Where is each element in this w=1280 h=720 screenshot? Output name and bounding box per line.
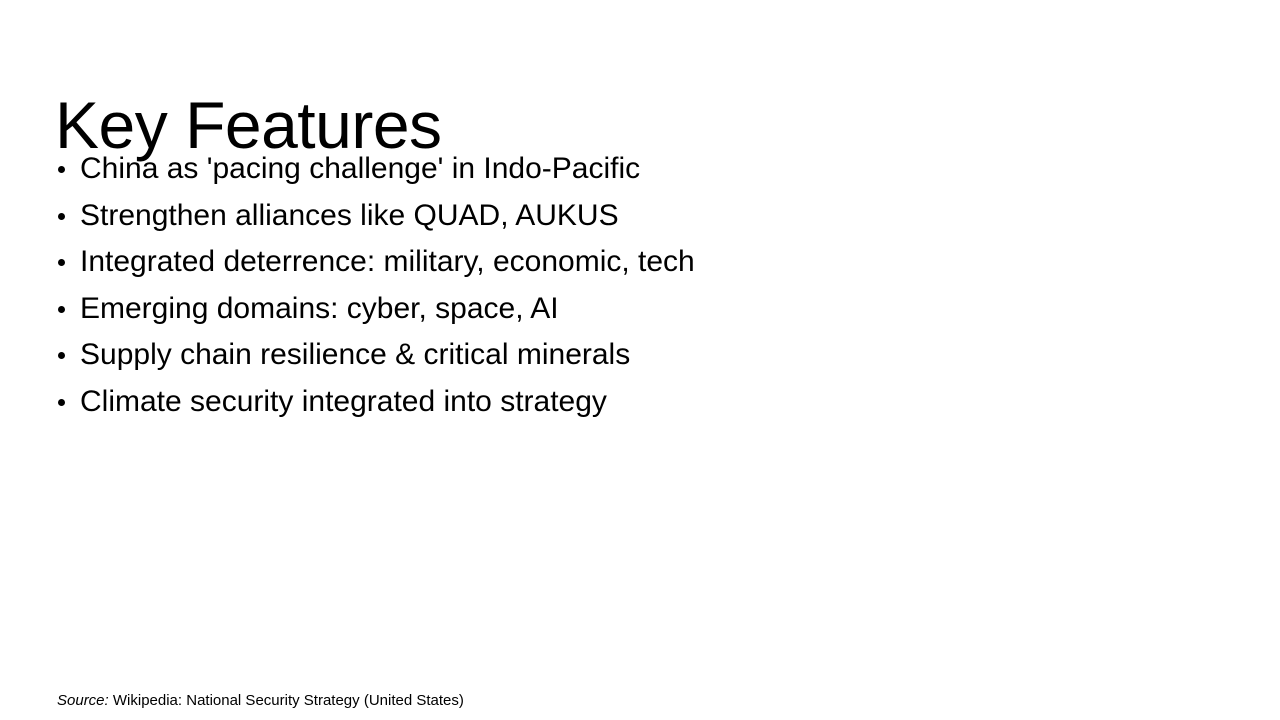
list-item-label: Strengthen alliances like QUAD, AUKUS <box>80 199 619 232</box>
source-value: Wikipedia: National Security Strategy (U… <box>113 692 464 709</box>
bullet-dot-icon <box>58 166 65 173</box>
key-features-list: China as 'pacing challenge' in Indo-Paci… <box>57 146 1157 425</box>
slide-canvas: Key Features China as 'pacing challenge'… <box>0 0 1280 720</box>
bullet-dot-icon <box>58 259 65 266</box>
list-item-label: Supply chain resilience & critical miner… <box>80 338 630 371</box>
list-item-label: Integrated deterrence: military, economi… <box>80 245 695 278</box>
list-item: China as 'pacing challenge' in Indo-Paci… <box>57 146 1157 193</box>
bullet-dot-icon <box>58 213 65 220</box>
list-item: Supply chain resilience & critical miner… <box>57 332 1157 379</box>
bullet-dot-icon <box>58 306 65 313</box>
list-item: Integrated deterrence: military, economi… <box>57 239 1157 286</box>
list-item: Climate security integrated into strateg… <box>57 379 1157 426</box>
list-item: Strengthen alliances like QUAD, AUKUS <box>57 193 1157 240</box>
bullet-dot-icon <box>58 352 65 359</box>
list-item-label: Climate security integrated into strateg… <box>80 385 607 418</box>
list-item-label: China as 'pacing challenge' in Indo-Paci… <box>80 152 640 185</box>
bullet-dot-icon <box>58 399 65 406</box>
list-item: Emerging domains: cyber, space, AI <box>57 286 1157 333</box>
list-item-label: Emerging domains: cyber, space, AI <box>80 292 559 325</box>
source-label: Source: <box>57 692 109 709</box>
source-citation: Source: Wikipedia: National Security Str… <box>57 691 464 711</box>
